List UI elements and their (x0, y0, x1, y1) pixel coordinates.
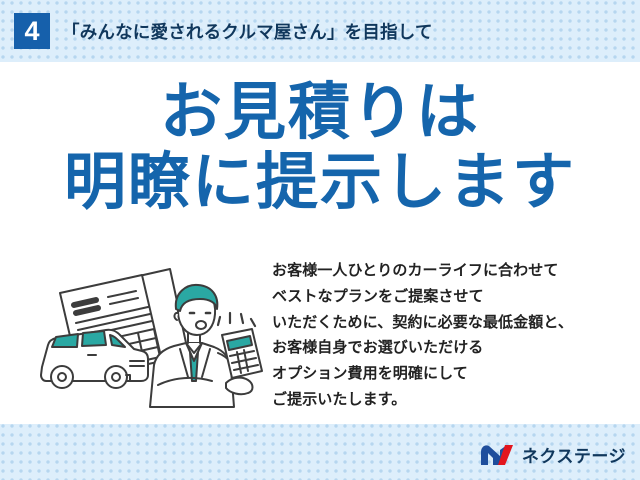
section-header: 4 「みんなに愛されるクルマ屋さん」を目指して (0, 0, 640, 62)
body-copy: お客様一人ひとりのカーライフに合わせて ベストなプランをご提案させて いただくた… (272, 258, 632, 413)
body-copy-line: ベストなプランをご提案させて (272, 284, 632, 310)
body-copy-line: ご提示いたします。 (272, 387, 632, 413)
headline: お見積りは 明瞭に提示します (0, 80, 640, 215)
sparkle-marks (218, 313, 255, 326)
brand-logo-text: ネクステージ (522, 442, 626, 467)
section-header-title: 「みんなに愛されるクルマ屋さん」を目指して (62, 19, 433, 44)
nextage-n-icon (480, 444, 514, 466)
body-copy-line: お客様自身でお選びいただける (272, 335, 632, 361)
body-copy-line: いただくために、契約に必要な最低金額と、 (272, 310, 632, 336)
promo-banner: 4 「みんなに愛されるクルマ屋さん」を目指して お見積りは 明瞭に提示します お… (0, 0, 640, 480)
body-copy-line: オプション費用を明確にして (272, 361, 632, 387)
illustration-salesman-estimate (30, 257, 270, 422)
headline-line-1: お見積りは (0, 80, 640, 146)
content-card: お見積りは 明瞭に提示します お客様一人ひとりのカーライフに合わせて ベストなプ… (0, 62, 640, 424)
section-number-badge: 4 (14, 13, 50, 49)
headline-line-2: 明瞭に提示します (0, 150, 640, 216)
footer: ネクステージ (0, 424, 640, 480)
brand-logo: ネクステージ (480, 442, 626, 467)
body-copy-line: お客様一人ひとりのカーライフに合わせて (272, 258, 632, 284)
